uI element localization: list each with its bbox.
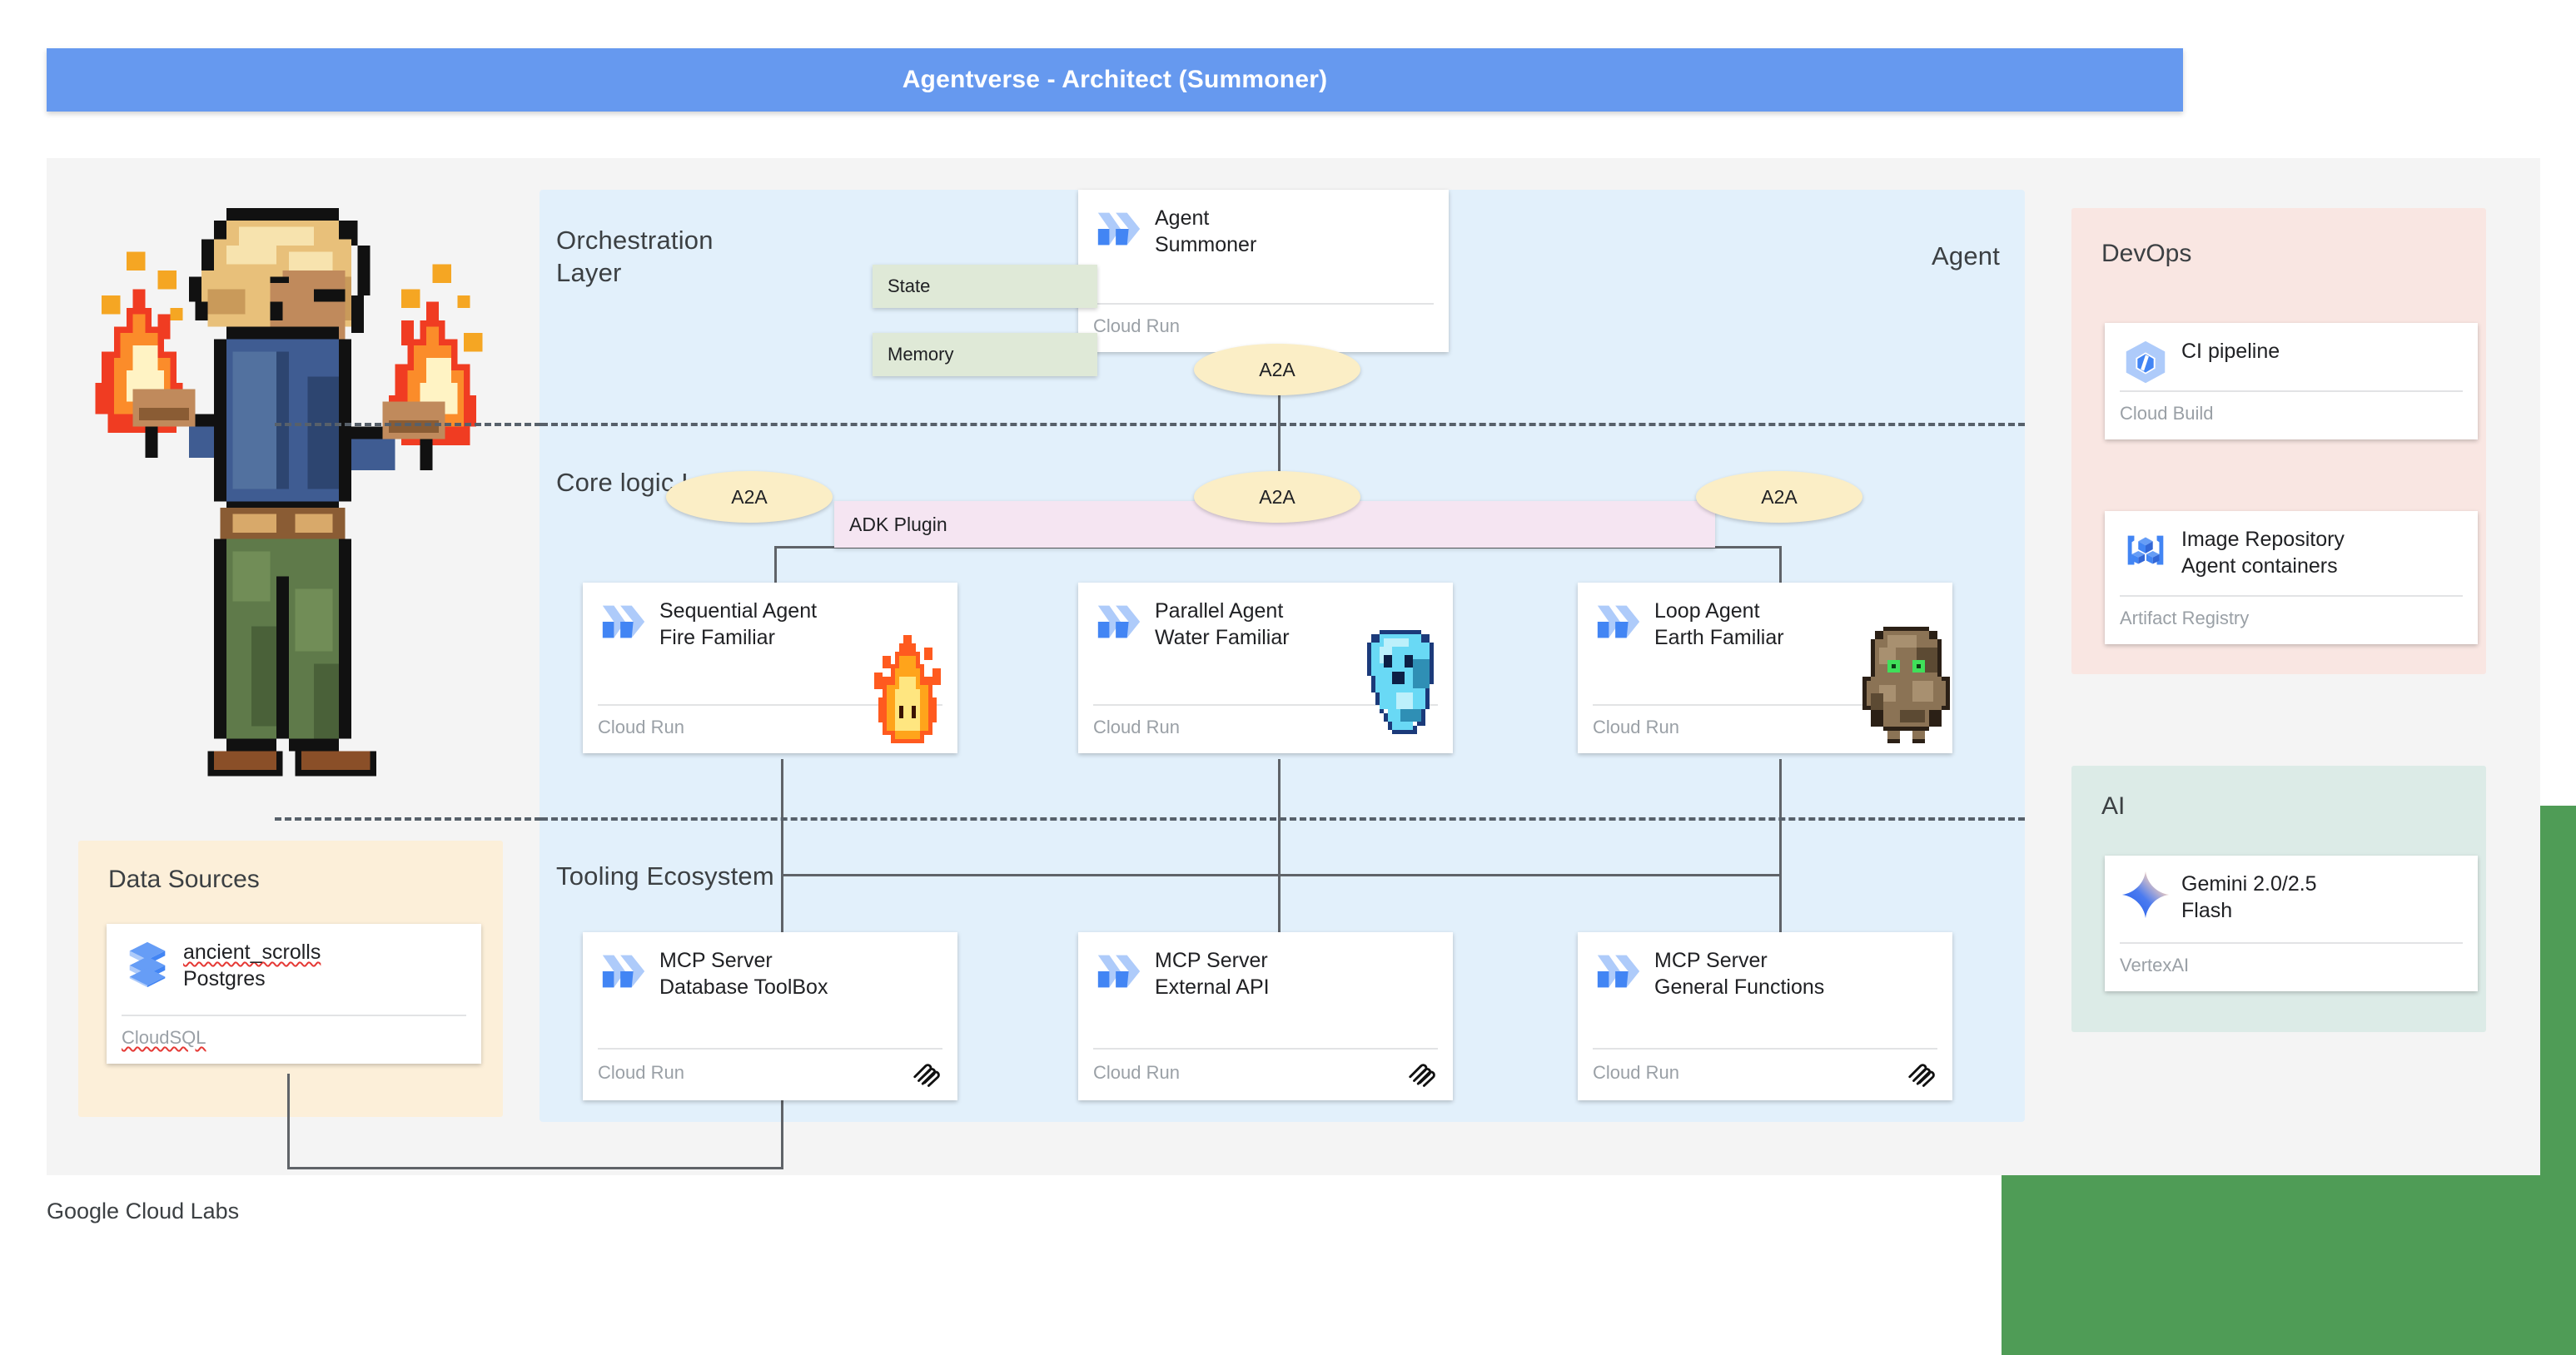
cloud-build-icon xyxy=(2120,336,2171,388)
orchestration-layer-title: Orchestration Layer xyxy=(556,225,714,290)
card-subtitle: Cloud Build xyxy=(2120,403,2214,424)
card-gemini-flash[interactable]: Gemini 2.0/2.5 Flash VertexAI xyxy=(2105,856,2478,991)
card-titles: ancient_scrollsPostgres xyxy=(183,937,466,992)
divider-orchestration-core xyxy=(541,423,2025,426)
card-name: MCP Server Database ToolBox xyxy=(659,946,942,1000)
card-loop-agent-earth[interactable]: Loop Agent Earth Familiar Cloud Run xyxy=(1578,583,1952,753)
card-body: Agent Summoner xyxy=(1093,203,1434,303)
card-footer: Cloud Run xyxy=(1093,305,1434,340)
card-body: Loop Agent Earth Familiar xyxy=(1593,596,1937,704)
card-name: Loop Agent Earth Familiar xyxy=(1654,596,1937,651)
cloud-run-icon xyxy=(1593,596,1644,648)
adk-plugin-label: ADK Plugin xyxy=(849,514,947,536)
ai-panel-title: AI xyxy=(2101,792,2125,821)
card-footer: Cloud Build xyxy=(2120,392,2463,428)
mcp-icon xyxy=(1406,1057,1438,1089)
chip-state-label: State xyxy=(888,275,930,297)
card-name: CI pipeline xyxy=(2181,336,2463,365)
connector-bus-to-a2a-right xyxy=(1779,546,1782,586)
cloudsql-icon xyxy=(122,937,173,989)
card-body: Parallel Agent Water Familiar xyxy=(1093,596,1438,704)
card-footer: VertexAI xyxy=(2120,944,2463,980)
devops-panel-title: DevOps xyxy=(2101,240,2191,268)
chip-state: State xyxy=(873,265,1097,308)
card-titles: Image Repository Agent containers xyxy=(2181,524,2463,579)
tooling-ecosystem-title: Tooling Ecosystem xyxy=(556,861,774,891)
chip-memory: Memory xyxy=(873,333,1097,376)
card-titles: MCP Server General Functions xyxy=(1654,946,1937,1000)
cloud-run-icon xyxy=(1093,946,1145,997)
card-subtitle: Cloud Run xyxy=(1593,717,1679,738)
card-titles: MCP Server External API xyxy=(1155,946,1438,1000)
card-name: MCP Server General Functions xyxy=(1654,946,1937,1000)
connector-tooling-bus xyxy=(781,874,1782,876)
connector-bus-to-mcp1 xyxy=(781,874,783,939)
card-subtitle: Cloud Run xyxy=(598,717,684,738)
cloud-run-icon xyxy=(598,946,649,997)
cloud-run-icon xyxy=(1593,946,1644,997)
mcp-icon xyxy=(1906,1057,1937,1089)
a2a-label: A2A xyxy=(1761,486,1797,509)
card-titles: CI pipeline xyxy=(2181,336,2463,365)
card-titles: Parallel Agent Water Familiar xyxy=(1155,596,1438,651)
card-name-line1: ancient_scrolls xyxy=(183,941,321,964)
connector-bus-to-a2a-left xyxy=(774,546,777,586)
cloud-run-icon xyxy=(598,596,649,648)
a2a-label: A2A xyxy=(731,486,767,509)
card-name: Parallel Agent Water Familiar xyxy=(1155,596,1438,651)
mcp-icon xyxy=(911,1057,942,1089)
card-body: MCP Server External API xyxy=(1093,946,1438,1048)
card-name: Sequential Agent Fire Familiar xyxy=(659,596,942,651)
divider-core-tooling xyxy=(541,817,2025,821)
a2a-badge-summoner: A2A xyxy=(1194,344,1360,395)
card-mcp-general-functions[interactable]: MCP Server General Functions Cloud Run xyxy=(1578,932,1952,1100)
data-sources-panel-title: Data Sources xyxy=(108,866,260,894)
card-name: ancient_scrollsPostgres xyxy=(183,937,466,992)
card-titles: Sequential Agent Fire Familiar xyxy=(659,596,942,651)
card-name: Gemini 2.0/2.5 Flash xyxy=(2181,869,2463,924)
footer-label: Google Cloud Labs xyxy=(47,1199,239,1224)
card-body: ancient_scrollsPostgres xyxy=(122,937,466,1015)
a2a-badge-fire: A2A xyxy=(666,471,833,523)
card-titles: Loop Agent Earth Familiar xyxy=(1654,596,1937,651)
card-subtitle: VertexAI xyxy=(2120,955,2189,976)
card-image-repository[interactable]: Image Repository Agent containers Artifa… xyxy=(2105,511,2478,644)
card-subtitle: Cloud Run xyxy=(1093,717,1180,738)
connector-bus-to-mcp2 xyxy=(1278,874,1281,939)
card-titles: Gemini 2.0/2.5 Flash xyxy=(2181,869,2463,924)
card-subtitle: Cloud Run xyxy=(1093,1062,1180,1084)
a2a-badge-water: A2A xyxy=(1194,471,1360,523)
card-agent-summoner[interactable]: Agent Summoner Cloud Run xyxy=(1078,190,1449,352)
card-footer: Cloud Run xyxy=(598,1050,942,1089)
page-title: Agentverse - Architect (Summoner) xyxy=(903,66,1328,94)
connector-datasource-up xyxy=(287,1074,290,1169)
card-subtitle: Cloud Run xyxy=(1093,315,1180,337)
card-footer: Cloud Run xyxy=(1593,706,1937,742)
card-body: Image Repository Agent containers xyxy=(2120,524,2463,595)
cloud-run-icon xyxy=(1093,203,1145,255)
card-footer: Cloud Run xyxy=(1093,706,1438,742)
artifact-registry-icon xyxy=(2120,524,2171,576)
card-footer: Cloud Run xyxy=(1093,1050,1438,1089)
agent-region-label: Agent xyxy=(1932,241,2000,271)
connector-to-datasource xyxy=(287,1167,783,1169)
a2a-badge-earth: A2A xyxy=(1696,471,1862,523)
card-body: MCP Server Database ToolBox xyxy=(598,946,942,1048)
connector-bus-to-mcp3 xyxy=(1779,874,1782,939)
card-name: Image Repository Agent containers xyxy=(2181,524,2463,579)
card-parallel-agent-water[interactable]: Parallel Agent Water Familiar Cloud Run xyxy=(1078,583,1453,753)
card-subtitle: Cloud Run xyxy=(598,1062,684,1084)
card-name-line2: Postgres xyxy=(183,967,266,990)
divider-core-tooling-left xyxy=(275,817,541,821)
card-subtitle: CloudSQL xyxy=(122,1027,206,1049)
card-sequential-agent-fire[interactable]: Sequential Agent Fire Familiar Cloud Run xyxy=(583,583,957,753)
card-body: Gemini 2.0/2.5 Flash xyxy=(2120,869,2463,942)
connector-mcp1-down xyxy=(781,1100,783,1169)
chip-memory-label: Memory xyxy=(888,344,953,365)
card-subtitle: Cloud Run xyxy=(1593,1062,1679,1084)
card-body: Sequential Agent Fire Familiar xyxy=(598,596,942,704)
card-titles: MCP Server Database ToolBox xyxy=(659,946,942,1000)
gemini-sparkle-icon xyxy=(2120,869,2171,921)
title-banner: Agentverse - Architect (Summoner) xyxy=(47,48,2183,112)
card-ci-pipeline[interactable]: CI pipeline Cloud Build xyxy=(2105,323,2478,439)
card-mcp-external-api[interactable]: MCP Server External API Cloud Run xyxy=(1078,932,1453,1100)
card-ancient-scrolls[interactable]: ancient_scrollsPostgres CloudSQL xyxy=(107,924,481,1064)
card-footer: CloudSQL xyxy=(122,1016,466,1052)
card-titles: Agent Summoner xyxy=(1155,203,1434,258)
card-footer: Cloud Run xyxy=(598,706,942,742)
divider-orchestration-core-left xyxy=(275,423,541,426)
card-body: MCP Server General Functions xyxy=(1593,946,1937,1048)
card-name: Agent Summoner xyxy=(1155,203,1434,258)
card-body: CI pipeline xyxy=(2120,336,2463,390)
card-footer: Cloud Run xyxy=(1593,1050,1937,1089)
summoner-character xyxy=(77,179,501,799)
a2a-label: A2A xyxy=(1259,359,1295,381)
a2a-label: A2A xyxy=(1259,486,1295,509)
cloud-run-icon xyxy=(1093,596,1145,648)
card-name: MCP Server External API xyxy=(1155,946,1438,1000)
card-footer: Artifact Registry xyxy=(2120,597,2463,633)
card-mcp-database-toolbox[interactable]: MCP Server Database ToolBox Cloud Run xyxy=(583,932,957,1100)
card-subtitle: Artifact Registry xyxy=(2120,608,2249,629)
